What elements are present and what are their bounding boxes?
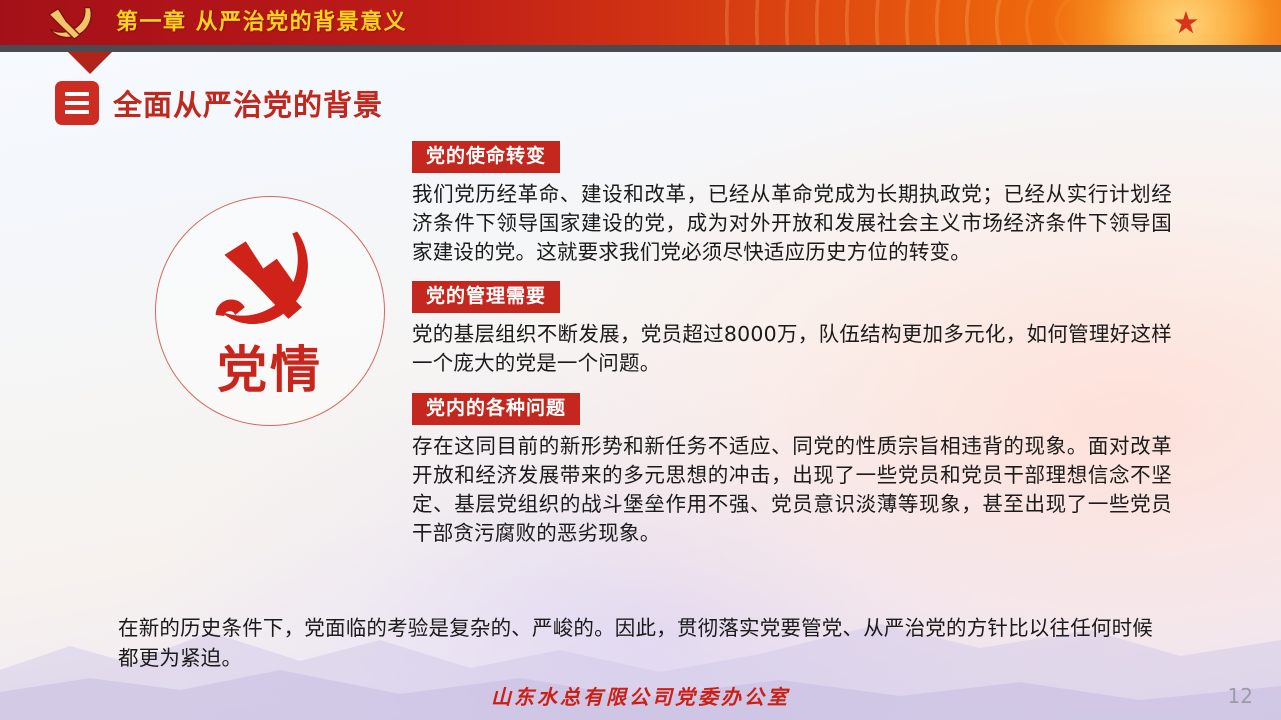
header-sunburst-decoration [961,0,1281,45]
hammer-sickle-icon [207,225,333,343]
emblem-label: 党情 [217,345,323,395]
page-number: 12 [1228,684,1253,708]
block-text: 我们党历经革命、建设和改革，已经从革命党成为长期执政党；已经从实行计划经济条件下… [412,180,1172,267]
block-text: 存在这同目前的新形势和新任务不适应、同党的性质宗旨相违背的现象。面对改革开放和经… [412,432,1172,548]
content-block: 党的使命转变 我们党历经革命、建设和改革，已经从革命党成为长期执政党；已经从实行… [412,141,1172,267]
section-title-row: 全面从严治党的背景 [55,81,383,125]
footer-brand: 山东水总有限公司党委办公室 [0,681,1281,710]
block-text: 党的基层组织不断发展，党员超过8000万，队伍结构更加多元化，如何管理好这样一个… [412,320,1172,378]
party-situation-emblem: 党情 [155,196,385,426]
block-badge: 党内的各种问题 [412,393,580,425]
content-blocks: 党的使命转变 我们党历经革命、建设和改革，已经从革命党成为长期执政党；已经从实行… [412,141,1172,562]
header-divider [0,45,1281,52]
hammer-sickle-icon [36,3,108,43]
section-pointer-triangle [68,52,112,74]
block-badge: 党的使命转变 [412,141,560,173]
page-title: 全面从严治党的背景 [113,82,383,124]
chapter-header-bar: 第一章 从严治党的背景意义 [0,0,1281,45]
block-badge: 党的管理需要 [412,281,560,313]
chapter-title: 第一章 从严治党的背景意义 [116,0,407,45]
five-pointed-star-icon [1173,10,1199,36]
slide-root: 第一章 从严治党的背景意义 全面从严治党的背景 党情 党的使命转变 我们党历经革… [0,0,1281,720]
content-block: 党内的各种问题 存在这同目前的新形势和新任务不适应、同党的性质宗旨相违背的现象。… [412,393,1172,548]
list-lines-icon [55,81,99,125]
conclusion-text: 在新的历史条件下，党面临的考验是复杂的、严峻的。因此，贯彻落实党要管党、从严治党… [118,614,1173,673]
content-block: 党的管理需要 党的基层组织不断发展，党员超过8000万，队伍结构更加多元化，如何… [412,281,1172,378]
